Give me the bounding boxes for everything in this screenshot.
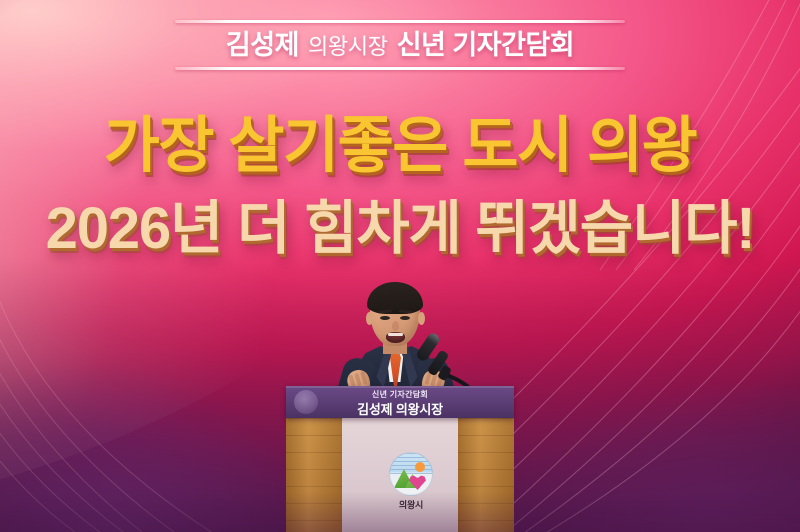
stage-floor-shadow: [0, 492, 800, 532]
podium-name-plate: 신년 기자간담회 김성제 의왕시장: [286, 386, 514, 418]
headline-line-1: 가장 살기좋은 도시 의왕: [0, 115, 800, 176]
speaker-hair: [367, 282, 423, 314]
city-emblem-icon: [389, 452, 433, 496]
backdrop-title: 김성제의왕시장신년 기자간담회: [0, 32, 800, 59]
title-rule-bottom: [175, 67, 625, 70]
emblem-sun-icon: [415, 462, 425, 472]
speaker-ear-right: [418, 312, 425, 325]
speaker-nose: [392, 321, 399, 331]
title-name: 김성제: [226, 30, 299, 60]
backdrop-title-block: 김성제의왕시장신년 기자간담회: [0, 20, 800, 70]
title-rule-top: [175, 20, 625, 23]
title-event: 신년 기자간담회: [397, 30, 574, 60]
speaker-eye-right: [400, 316, 410, 320]
press-conference-photo: 김성제의왕시장신년 기자간담회 가장 살기좋은 도시 의왕 2026년 더 힘차…: [0, 0, 800, 532]
podium-speaker-label: 김성제 의왕시장: [286, 399, 514, 418]
headline-line-2: 2026년 더 힘차게 뛰겠습니다!: [0, 200, 800, 258]
title-role: 의왕시장: [308, 34, 388, 59]
emblem-sky-lines: [390, 453, 432, 474]
speaker-mouth: [386, 332, 405, 343]
speaker-ear-left: [366, 312, 373, 325]
speaker-eye-left: [380, 316, 390, 320]
